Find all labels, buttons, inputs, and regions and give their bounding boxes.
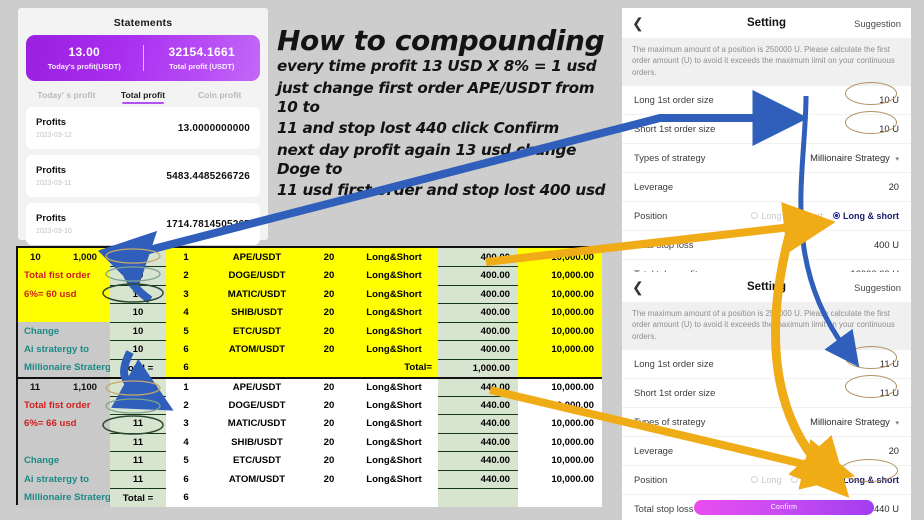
radio-dot-icon (751, 212, 758, 219)
cell-leverage: 20 (308, 433, 350, 452)
cell-leverage: 20 (308, 378, 350, 397)
cell-order-size: 11 (110, 396, 166, 415)
row-leverage[interactable]: Leverage 20 (622, 173, 911, 202)
statements-tabs: Today' s profit Total profit Coin profit (26, 81, 260, 107)
table-row: 10 4 SHIB/USDT 20 Long&Short 400.00 10,0… (18, 304, 602, 323)
radio-label: Long & short (843, 475, 899, 485)
row-value: 20 (889, 445, 899, 456)
suggestion-link[interactable]: Suggestion (854, 282, 901, 293)
cell-order-size: 11 (110, 415, 166, 434)
compounding-spreadsheet: 10 1,000 10 1 APE/USDT 20 Long&Short 400… (16, 246, 600, 505)
setting-note: The maximum amount of a position is 2500… (622, 38, 911, 86)
cell-take-profit: 10,000.00 (518, 322, 602, 341)
list-item[interactable]: Profits 2023-03-10 1714.7814505267 (26, 203, 260, 245)
headline-block: How to compounding every time profit 13 … (277, 26, 617, 200)
cell-pair: ATOM/USDT (206, 341, 308, 360)
note-cell: Total fist order (18, 267, 110, 286)
cell-leverage: 20 (308, 341, 350, 360)
cell-total-count: 6 (166, 489, 206, 508)
total-profit-value: 32154.1661 (144, 45, 261, 59)
cell-stop-loss: 440.00 (438, 470, 518, 489)
row-value: Millionaire Strategy (810, 416, 890, 427)
cell-take-profit: 10,000.00 (518, 433, 602, 452)
note-cell: Total fist order (18, 396, 110, 415)
suggestion-link[interactable]: Suggestion (854, 18, 901, 29)
cell-order-size: 10 (110, 248, 166, 267)
cell-pair: APE/USDT (206, 248, 308, 267)
note-left: 11 (30, 382, 40, 393)
headline-line-5: 11 usd first order and stop lost 400 usd (277, 181, 617, 200)
table-row: 6%= 66 usd 11 3 MATIC/USDT 20 Long&Short… (18, 415, 602, 434)
tab-coin-profit[interactable]: Coin profit (181, 90, 258, 100)
cell-take-profit: 10,000.00 (518, 396, 602, 415)
radio-dot-icon (791, 476, 798, 483)
row-label: Leverage (634, 181, 673, 192)
total-profit-block: 32154.1661 Total profit (USDT) (144, 45, 261, 71)
radio-short[interactable]: Short (791, 475, 823, 485)
radio-dot-icon (833, 212, 840, 219)
note-cell: 6%= 66 usd (18, 415, 110, 434)
cell-stop-loss: 400.00 (438, 285, 518, 304)
row-value: 11 U (880, 358, 899, 369)
row-label: Types of strategy (634, 416, 705, 427)
cell-index: 4 (166, 304, 206, 323)
cell-direction: Long&Short (350, 304, 438, 323)
cell-direction: Long&Short (350, 470, 438, 489)
cell-leverage: 20 (308, 415, 350, 434)
chevron-down-icon[interactable]: ▾ (895, 156, 899, 163)
note-right: 1,100 (73, 382, 97, 393)
cell-stop-loss: 440.00 (438, 433, 518, 452)
cell-empty (308, 359, 350, 378)
note-cell (18, 433, 110, 452)
cell-order-size: 10 (110, 285, 166, 304)
cell-order-size: 10 (110, 267, 166, 286)
cell-direction: Long&Short (350, 285, 438, 304)
cell-leverage: 20 (308, 267, 350, 286)
cell-total-count: 6 (166, 359, 206, 378)
profit-entry-info: Profits 2023-03-11 (36, 165, 71, 187)
note-cell: 11 1,100 (18, 378, 110, 397)
profit-entry-amount: 13.0000000000 (178, 123, 250, 134)
profit-entry-amount: 5483.4485266726 (166, 171, 250, 182)
note-cell: Change (18, 452, 110, 471)
cell-leverage: 20 (308, 322, 350, 341)
today-profit-label: Today's profit(USDT) (26, 62, 143, 71)
cell-index: 4 (166, 433, 206, 452)
setting-header: ❮ Setting Suggestion (622, 272, 911, 302)
radio-long-and-short[interactable]: Long & short (833, 211, 899, 221)
list-item[interactable]: Profits 2023-03-12 13.0000000000 (26, 107, 260, 149)
radio-dot-icon (791, 212, 798, 219)
position-options: Long Short Long & short (751, 211, 899, 221)
setting-header: ❮ Setting Suggestion (622, 8, 911, 38)
note-split: 10 1,000 (24, 252, 107, 263)
cell-order-size: 10 (110, 341, 166, 360)
cell-order-size: 11 (110, 470, 166, 489)
cell-direction: Long&Short (350, 433, 438, 452)
row-label: Leverage (634, 445, 673, 456)
confirm-button[interactable]: Confirm (694, 500, 874, 515)
cell-take-profit: 10,000.00 (518, 341, 602, 360)
cell-pair: APE/USDT (206, 378, 308, 397)
table-total-row: Millionaire Stratergy Total = 6 Total= 1… (18, 359, 602, 378)
setting-rows: Long 1st order size 11 U Short 1st order… (622, 350, 911, 520)
cell-order-size: 10 (110, 322, 166, 341)
cell-take-profit: 10,000.00 (518, 248, 602, 267)
row-short-1st-order-size[interactable]: Short 1st order size 10 U (622, 115, 911, 144)
profit-entry-amount: 1714.7814505267 (166, 219, 250, 230)
cell-take-profit: 10,000.00 (518, 267, 602, 286)
row-value: 440 U (874, 503, 899, 514)
cell-direction: Long&Short (350, 322, 438, 341)
note-cell: 6%= 60 usd (18, 285, 110, 304)
cell-leverage: 20 (308, 285, 350, 304)
cell-direction: Long&Short (350, 341, 438, 360)
row-value: 400 U (874, 239, 899, 250)
note-split: 11 1,100 (24, 382, 107, 393)
cell-total-sl-value (438, 489, 518, 508)
cell-total-sl-label: Total= (350, 359, 438, 378)
row-value-wrap: Millionaire Strategy ▾ (810, 152, 899, 163)
cell-empty (206, 489, 308, 508)
note-right: 1,000 (73, 252, 97, 263)
row-label: Position (634, 210, 667, 221)
profit-entry-label: Profits (36, 117, 72, 128)
row-long-1st-order-size[interactable]: Long 1st order size 10 U (622, 86, 911, 115)
cell-direction: Long&Short (350, 378, 438, 397)
cell-leverage: 20 (308, 304, 350, 323)
cell-stop-loss: 400.00 (438, 248, 518, 267)
cell-stop-loss: 440.00 (438, 378, 518, 397)
statements-title: Statements (26, 14, 260, 35)
cell-take-profit: 10,000.00 (518, 285, 602, 304)
row-position[interactable]: Position Long Short Long & short (622, 202, 911, 231)
radio-long[interactable]: Long (751, 211, 781, 221)
radio-long[interactable]: Long (751, 475, 781, 485)
note-cell (18, 304, 110, 323)
total-profit-label: Total profit (USDT) (144, 62, 261, 71)
cell-order-size: 11 (110, 378, 166, 397)
chevron-left-icon[interactable]: ❮ (632, 280, 644, 294)
profit-entry-label: Profits (36, 213, 72, 224)
cell-take-profit: 10,000.00 (518, 415, 602, 434)
cell-pair: MATIC/USDT (206, 285, 308, 304)
note-cell: Change (18, 322, 110, 341)
headline-line-2: just change first order APE/USDT from 10… (277, 79, 617, 118)
row-long-1st-order-size[interactable]: Long 1st order size 11 U (622, 350, 911, 379)
cell-take-profit: 10,000.00 (518, 452, 602, 471)
radio-label: Short (801, 211, 823, 221)
headline-line-4: next day profit again 13 usd change Doge… (277, 141, 617, 180)
radio-long-and-short[interactable]: Long & short (833, 475, 899, 485)
cell-stop-loss: 440.00 (438, 415, 518, 434)
row-label: Total stop loss (634, 239, 693, 250)
cell-index: 3 (166, 285, 206, 304)
radio-label: Long (761, 475, 781, 485)
row-types-of-strategy[interactable]: Types of strategy Millionaire Strategy ▾ (622, 144, 911, 173)
profit-entry-date: 2023-03-11 (36, 180, 71, 187)
row-value: Millionaire Strategy (810, 152, 890, 163)
row-label: Long 1st order size (634, 94, 714, 105)
cell-take-profit: 10,000.00 (518, 304, 602, 323)
cell-leverage: 20 (308, 396, 350, 415)
row-label: Types of strategy (634, 152, 705, 163)
cell-stop-loss: 400.00 (438, 267, 518, 286)
radio-short[interactable]: Short (791, 211, 823, 221)
cell-order-size: 11 (110, 433, 166, 452)
cell-total-label: Total = (110, 489, 166, 508)
cell-stop-loss: 400.00 (438, 341, 518, 360)
cell-index: 3 (166, 415, 206, 434)
row-value-wrap: Millionaire Strategy ▾ (810, 416, 899, 427)
cell-index: 2 (166, 396, 206, 415)
radio-label: Long & short (843, 211, 899, 221)
cell-order-size: 10 (110, 304, 166, 323)
cell-index: 5 (166, 322, 206, 341)
profit-entry-date: 2023-03-10 (36, 228, 72, 235)
today-profit-value: 13.00 (26, 45, 143, 59)
profit-banner: 13.00 Today's profit(USDT) 32154.1661 To… (26, 35, 260, 81)
setting-rows: Long 1st order size 10 U Short 1st order… (622, 86, 911, 289)
table-row: 10 1,000 10 1 APE/USDT 20 Long&Short 400… (18, 248, 602, 267)
screenshot-root: Statements 13.00 Today's profit(USDT) 32… (0, 0, 924, 520)
note-left: 10 (30, 252, 41, 263)
table-row: Ai stratergy to 10 6 ATOM/USDT 20 Long&S… (18, 341, 602, 360)
radio-label: Long (761, 211, 781, 221)
note-cell: 10 1,000 (18, 248, 110, 267)
row-types-of-strategy[interactable]: Types of strategy Millionaire Strategy ▾ (622, 408, 911, 437)
cell-total-sl-label (350, 489, 438, 508)
table-row: Total fist order 11 2 DOGE/USDT 20 Long&… (18, 396, 602, 415)
headline-line-1: every time profit 13 USD X 8% = 1 usd (277, 57, 617, 76)
cell-leverage: 20 (308, 470, 350, 489)
cell-stop-loss: 400.00 (438, 322, 518, 341)
note-cell: Ai stratergy to (18, 470, 110, 489)
today-profit-block: 13.00 Today's profit(USDT) (26, 45, 143, 71)
profit-entry-label: Profits (36, 165, 71, 176)
row-total-stop-loss[interactable]: Total stop loss 400 U (622, 231, 911, 260)
cell-empty (518, 489, 602, 508)
spreadsheet-table: 10 1,000 10 1 APE/USDT 20 Long&Short 400… (18, 248, 602, 507)
statements-card: Statements 13.00 Today's profit(USDT) 32… (18, 8, 268, 240)
cell-index: 6 (166, 341, 206, 360)
radio-label: Short (801, 475, 823, 485)
cell-direction: Long&Short (350, 396, 438, 415)
page-title: How to compounding (277, 26, 617, 55)
table-row: Total fist order 10 2 DOGE/USDT 20 Long&… (18, 267, 602, 286)
row-label: Position (634, 474, 667, 485)
note-cell: Ai stratergy to (18, 341, 110, 360)
cell-empty (308, 489, 350, 508)
row-label: Long 1st order size (634, 358, 714, 369)
cell-pair: ATOM/USDT (206, 470, 308, 489)
position-options: Long Short Long & short (751, 475, 899, 485)
chevron-left-icon[interactable]: ❮ (632, 16, 644, 30)
cell-total-label: Total = (110, 359, 166, 378)
profit-entry-date: 2023-03-12 (36, 132, 72, 139)
cell-pair: DOGE/USDT (206, 396, 308, 415)
table-row: Ai stratergy to 11 6 ATOM/USDT 20 Long&S… (18, 470, 602, 489)
cell-pair: SHIB/USDT (206, 304, 308, 323)
row-label: Short 1st order size (634, 387, 715, 398)
table-row: Change 10 5 ETC/USDT 20 Long&Short 400.0… (18, 322, 602, 341)
note-cell: Millionaire Stratergy (18, 359, 110, 378)
cell-pair: SHIB/USDT (206, 433, 308, 452)
cell-direction: Long&Short (350, 248, 438, 267)
setting-panel-second: ❮ Setting Suggestion The maximum amount … (622, 272, 911, 504)
setting-panel-first: ❮ Setting Suggestion The maximum amount … (622, 8, 911, 256)
cell-direction: Long&Short (350, 267, 438, 286)
cell-stop-loss: 400.00 (438, 304, 518, 323)
radio-dot-icon (751, 476, 758, 483)
cell-total-sl-value: 1,000.00 (438, 359, 518, 378)
cell-take-profit: 10,000.00 (518, 470, 602, 489)
cell-pair: MATIC/USDT (206, 415, 308, 434)
row-value: 10 U (879, 123, 899, 134)
cell-index: 1 (166, 378, 206, 397)
row-value: 20 (889, 181, 899, 192)
row-label: Short 1st order size (634, 123, 715, 134)
row-label: Total stop loss (634, 503, 693, 514)
cell-pair: DOGE/USDT (206, 267, 308, 286)
table-total-row: Millionaire Stratergy Total = 6 (18, 489, 602, 508)
cell-take-profit: 10,000.00 (518, 378, 602, 397)
cell-leverage: 20 (308, 248, 350, 267)
setting-note: The maximum amount of a position is 2500… (622, 302, 911, 350)
chevron-down-icon[interactable]: ▾ (895, 420, 899, 427)
cell-direction: Long&Short (350, 452, 438, 471)
tab-today-profit[interactable]: Today' s profit (28, 90, 105, 100)
cell-direction: Long&Short (350, 415, 438, 434)
cell-index: 5 (166, 452, 206, 471)
cell-stop-loss: 440.00 (438, 452, 518, 471)
row-short-1st-order-size[interactable]: Short 1st order size 11 U (622, 379, 911, 408)
profit-entry-info: Profits 2023-03-10 (36, 213, 72, 235)
cell-pair: ETC/USDT (206, 452, 308, 471)
cell-stop-loss: 440.00 (438, 396, 518, 415)
cell-empty (206, 359, 308, 378)
table-row: 11 1,100 11 1 APE/USDT 20 Long&Short 440… (18, 378, 602, 397)
table-row: 11 4 SHIB/USDT 20 Long&Short 440.00 10,0… (18, 433, 602, 452)
cell-index: 2 (166, 267, 206, 286)
cell-leverage: 20 (308, 452, 350, 471)
cell-index: 6 (166, 470, 206, 489)
row-leverage[interactable]: Leverage 20 (622, 437, 911, 466)
cell-empty (518, 359, 602, 378)
row-value: 11 U (880, 387, 899, 398)
row-value: 10 U (879, 94, 899, 105)
note-cell: Millionaire Stratergy (18, 489, 110, 508)
tab-total-profit[interactable]: Total profit (105, 90, 182, 100)
profit-entry-info: Profits 2023-03-12 (36, 117, 72, 139)
row-position[interactable]: Position Long Short Long & short (622, 466, 911, 495)
table-row: Change 11 5 ETC/USDT 20 Long&Short 440.0… (18, 452, 602, 471)
radio-dot-icon (833, 476, 840, 483)
cell-pair: ETC/USDT (206, 322, 308, 341)
headline-line-3: 11 and stop lost 440 click Confirm (277, 119, 617, 138)
cell-order-size: 11 (110, 452, 166, 471)
table-row: 6%= 60 usd 10 3 MATIC/USDT 20 Long&Short… (18, 285, 602, 304)
list-item[interactable]: Profits 2023-03-11 5483.4485266726 (26, 155, 260, 197)
cell-index: 1 (166, 248, 206, 267)
